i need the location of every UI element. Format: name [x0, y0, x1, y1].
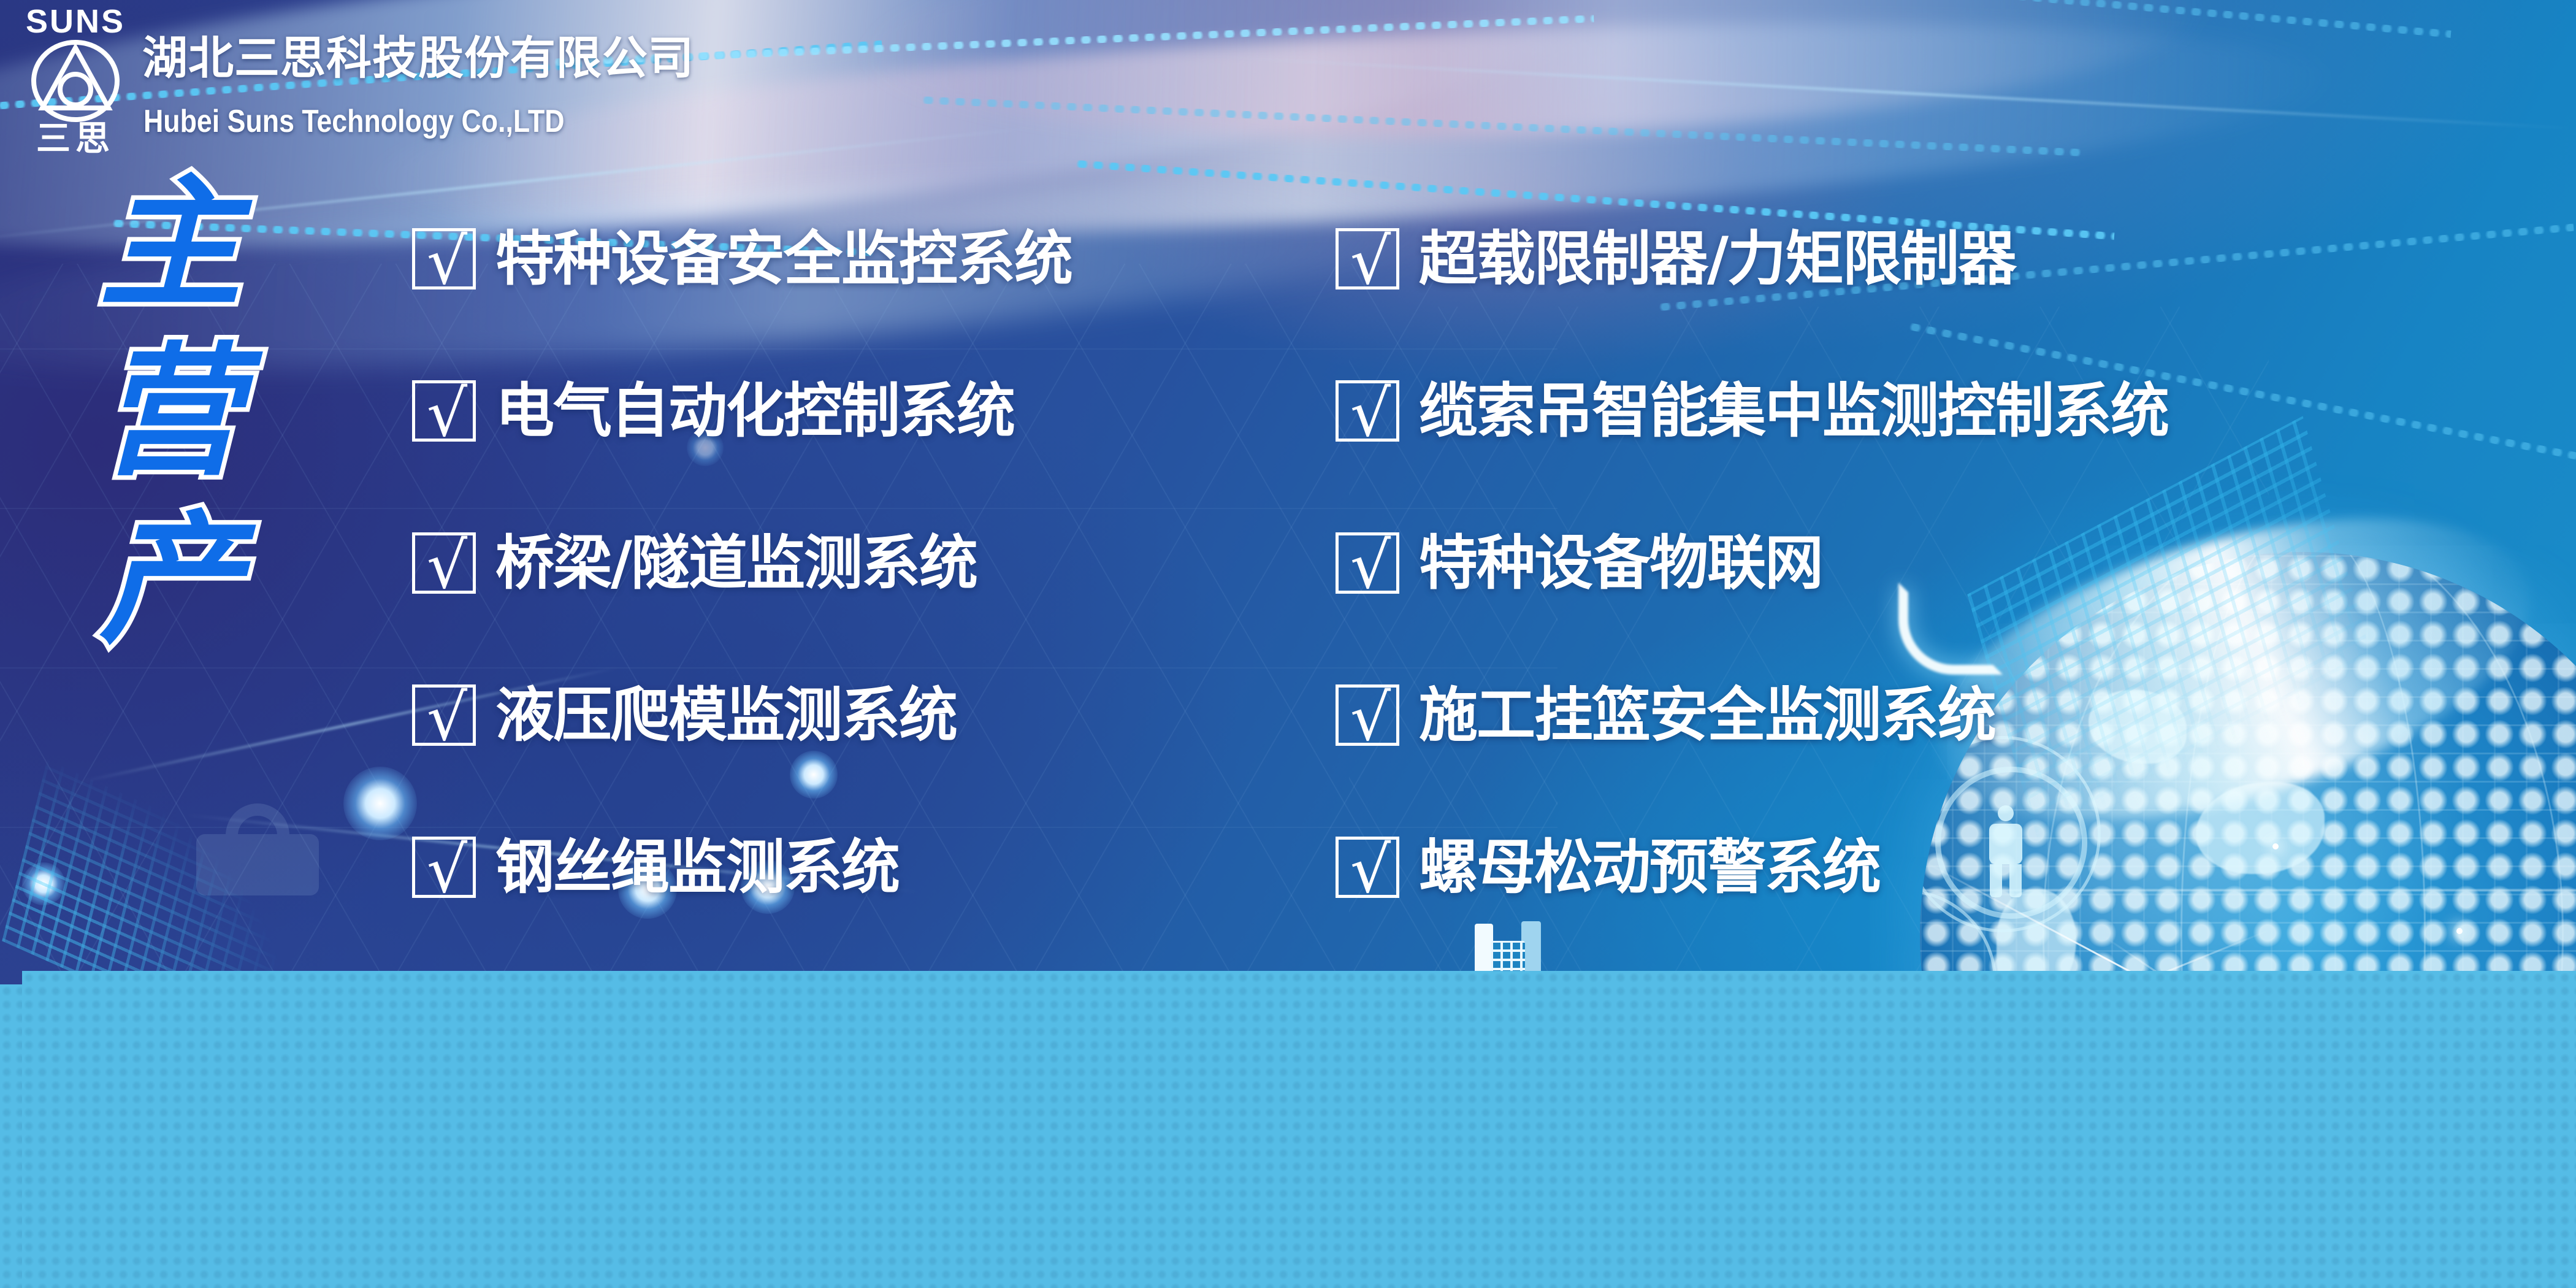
product-item-right-2[interactable]: √ 缆索吊智能集中监测控制系统: [1336, 380, 2168, 442]
bottom-panel: [22, 971, 2576, 1288]
logo-sansi-text: 三思: [11, 121, 140, 156]
company-name-cn: 湖北三思科技股份有限公司: [142, 36, 694, 81]
product-label: 螺母松动预警系统: [1419, 838, 1880, 897]
product-item-left-3[interactable]: √ 桥梁/隧道监测系统: [412, 532, 977, 594]
logo-suns-text: SUNS: [11, 5, 140, 38]
checkbox-icon[interactable]: √: [412, 228, 476, 289]
check-glyph: √: [422, 387, 472, 441]
company-logo: SUNS 三思: [11, 4, 140, 157]
headline-char-2: 营: [99, 329, 345, 497]
product-label: 钢丝绳监测系统: [495, 838, 899, 897]
main-products-headline: 主 营 产: [99, 161, 345, 664]
checkbox-icon[interactable]: √: [412, 684, 476, 746]
headline-char-1: 主: [99, 161, 345, 329]
product-item-left-2[interactable]: √ 电气自动化控制系统: [412, 380, 1014, 442]
glow-node-1: [343, 767, 417, 840]
product-label: 特种设备物联网: [1419, 534, 1822, 592]
checkbox-icon[interactable]: √: [412, 380, 476, 442]
suns-triangle-circle-logo: [31, 39, 120, 123]
product-label: 液压爬模监测系统: [495, 686, 957, 745]
headline-char-3: 产: [99, 497, 345, 665]
product-item-left-4[interactable]: √ 液压爬模监测系统: [412, 684, 957, 746]
check-glyph: √: [1346, 843, 1395, 897]
check-glyph: √: [422, 691, 472, 745]
checkbox-icon[interactable]: √: [1336, 684, 1399, 746]
product-item-right-5[interactable]: √ 螺母松动预警系统: [1336, 837, 1880, 898]
checkbox-icon[interactable]: √: [1336, 228, 1399, 289]
product-item-right-1[interactable]: √ 超载限制器/力矩限制器: [1336, 228, 2016, 289]
check-glyph: √: [1346, 691, 1395, 745]
product-label: 超载限制器/力矩限制器: [1419, 229, 2016, 288]
check-glyph: √: [1346, 539, 1395, 593]
product-label: 特种设备安全监控系统: [495, 229, 1072, 288]
product-label: 桥梁/隧道监测系统: [495, 534, 977, 592]
bottom-panel-notch: [0, 984, 25, 1288]
checkbox-icon[interactable]: √: [412, 837, 476, 898]
product-item-left-5[interactable]: √ 钢丝绳监测系统: [412, 837, 899, 898]
check-glyph: √: [422, 843, 472, 897]
product-label: 电气自动化控制系统: [495, 381, 1014, 440]
check-glyph: √: [1346, 235, 1395, 289]
product-item-left-1[interactable]: √ 特种设备安全监控系统: [412, 228, 1072, 289]
glow-node-4: [790, 751, 838, 799]
banner-canvas: SUNS 三思 湖北三思科技股份有限公司 Hubei Suns Technolo…: [0, 0, 2576, 1288]
checkbox-icon[interactable]: √: [1336, 837, 1399, 898]
checkbox-icon[interactable]: √: [1336, 380, 1399, 442]
checkbox-icon[interactable]: √: [412, 532, 476, 594]
product-label: 缆索吊智能集中监测控制系统: [1419, 381, 2168, 440]
product-item-right-4[interactable]: √ 施工挂篮安全监测系统: [1336, 684, 1995, 746]
company-name-en: Hubei Suns Technology Co.,LTD: [143, 105, 565, 137]
checkbox-icon[interactable]: √: [1336, 532, 1399, 594]
person-in-network-icon: [1981, 805, 2030, 903]
check-glyph: √: [422, 235, 472, 289]
product-item-right-3[interactable]: √ 特种设备物联网: [1336, 532, 1822, 594]
product-label: 施工挂篮安全监测系统: [1419, 686, 1995, 745]
check-glyph: √: [422, 539, 472, 593]
check-glyph: √: [1346, 387, 1395, 441]
